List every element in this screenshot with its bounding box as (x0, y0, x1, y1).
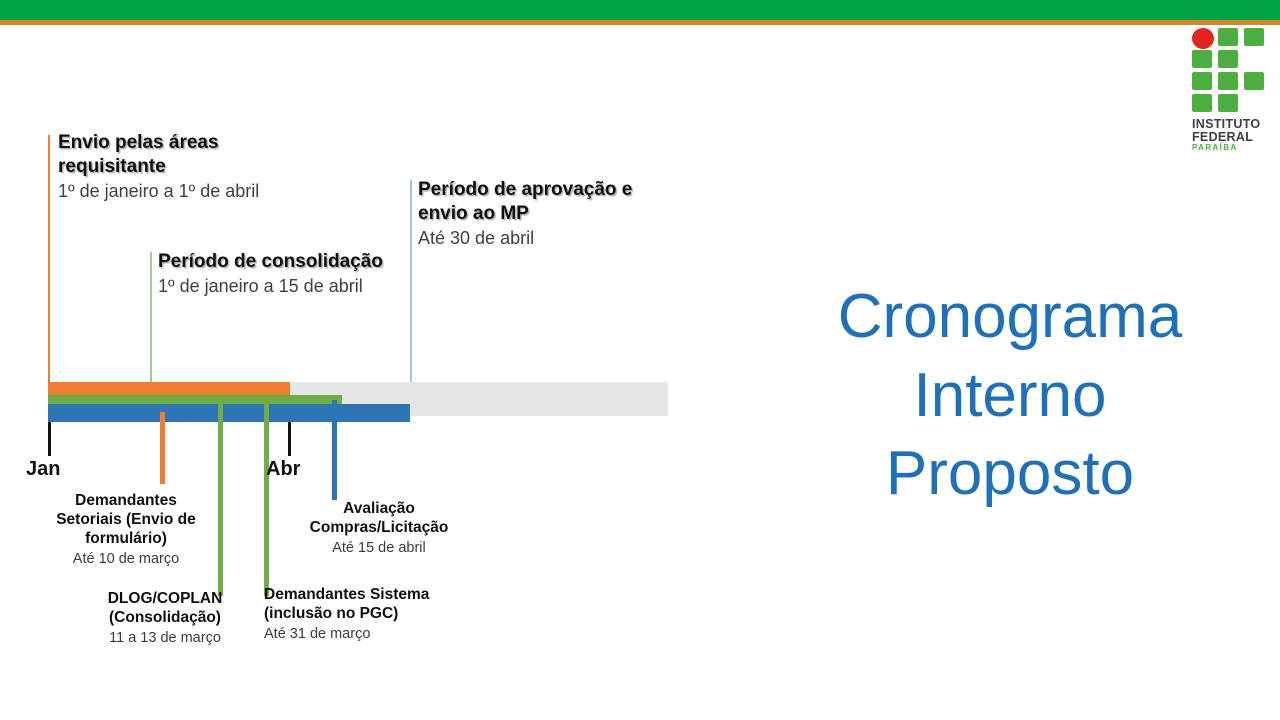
ifpb-logo: INSTITUTO FEDERAL PARAÍBA (1192, 28, 1278, 138)
callout-consolidacao-subtitle: 1º de janeiro a 15 de abril (158, 275, 458, 298)
connector-line-aprovacao (410, 180, 412, 416)
logo-square-icon (1192, 50, 1212, 68)
milestone-1-title-line-1: Demandantes (42, 492, 210, 511)
callout-aprovacao-title-line-1: Período de aprovação e (418, 178, 708, 202)
milestone-3-title-line-1: Demandantes Sistema (264, 586, 484, 605)
milestone-2-title-line-2: (Consolidação) (85, 609, 245, 628)
bar-envio-areas-requisitante (48, 382, 290, 395)
milestone-tick-demandantes-setoriais (160, 412, 165, 484)
milestone-tick-dlog-coplan (218, 404, 223, 596)
callout-aprovacao-title-line-2: envio ao MP (418, 202, 708, 226)
logo-text-instituto: INSTITUTO (1192, 118, 1278, 131)
milestone-1-title-line-3: formulário) (42, 530, 210, 549)
logo-square-icon (1218, 50, 1238, 68)
page-title: Cronograma Interno Proposto (760, 278, 1260, 514)
callout-envio-title-line-1: Envio pelas áreas (58, 131, 358, 155)
axis-tick-abr (288, 422, 291, 456)
gantt-chart: Jan Abr Envio pelas áreas requisitante 1… (0, 0, 760, 720)
slide-root: INSTITUTO FEDERAL PARAÍBA Cronograma Int… (0, 0, 1280, 720)
milestone-demandantes-sistema: Demandantes Sistema (inclusão no PGC) At… (264, 586, 484, 643)
axis-label-jan: Jan (26, 458, 60, 481)
milestone-4-title-line-2: Compras/Licitação (288, 519, 470, 538)
milestone-dlog-coplan: DLOG/COPLAN (Consolidação) 11 a 13 de ma… (85, 590, 245, 647)
callout-aprovacao-subtitle: Até 30 de abril (418, 227, 708, 250)
page-title-line-3: Proposto (760, 435, 1260, 514)
callout-periodo-aprovacao-envio-mp: Período de aprovação e envio ao MP Até 3… (418, 178, 708, 249)
logo-text-federal: FEDERAL (1192, 131, 1278, 144)
callout-periodo-consolidacao: Período de consolidação 1º de janeiro a … (158, 250, 458, 297)
milestone-3-title-line-2: (inclusão no PGC) (264, 605, 484, 624)
callout-envio-title-line-2: requisitante (58, 155, 358, 179)
callout-envio-areas-requisitante: Envio pelas áreas requisitante 1º de jan… (58, 131, 358, 202)
milestone-4-title-line-1: Avaliação (288, 500, 470, 519)
page-title-line-1: Cronograma (760, 278, 1260, 357)
ifpb-logo-mark (1192, 28, 1278, 100)
connector-line-envio (48, 135, 50, 383)
logo-square-icon (1192, 94, 1212, 112)
milestone-1-title-line-2: Setoriais (Envio de (42, 511, 210, 530)
connector-line-consolidacao (150, 252, 152, 393)
logo-square-icon (1192, 72, 1212, 90)
milestone-2-subtitle: 11 a 13 de março (85, 629, 245, 647)
milestone-tick-avaliacao-compras (332, 400, 337, 500)
logo-red-dot-icon (1192, 28, 1214, 49)
milestone-1-subtitle: Até 10 de março (42, 550, 210, 568)
axis-tick-jan (48, 422, 51, 456)
logo-square-icon (1244, 72, 1264, 90)
milestone-4-subtitle: Até 15 de abril (288, 539, 470, 557)
milestone-avaliacao-compras: Avaliação Compras/Licitação Até 15 de ab… (288, 500, 470, 557)
bar-periodo-aprovacao-envio-mp (48, 404, 410, 422)
page-title-line-2: Interno (760, 357, 1260, 436)
milestone-tick-demandantes-sistema (264, 404, 269, 596)
callout-envio-subtitle: 1º de janeiro a 1º de abril (58, 180, 358, 203)
logo-square-icon (1218, 28, 1238, 46)
logo-square-icon (1218, 72, 1238, 90)
ifpb-logo-wordmark: INSTITUTO FEDERAL PARAÍBA (1192, 118, 1278, 152)
logo-square-icon (1218, 94, 1238, 112)
axis-label-abr: Abr (266, 458, 300, 481)
milestone-3-subtitle: Até 31 de março (264, 625, 484, 643)
milestone-demandantes-setoriais: Demandantes Setoriais (Envio de formulár… (42, 492, 210, 568)
callout-consolidacao-title: Período de consolidação (158, 250, 458, 274)
milestone-2-title-line-1: DLOG/COPLAN (85, 590, 245, 609)
logo-text-paraiba: PARAÍBA (1192, 144, 1278, 152)
logo-square-icon (1244, 28, 1264, 46)
